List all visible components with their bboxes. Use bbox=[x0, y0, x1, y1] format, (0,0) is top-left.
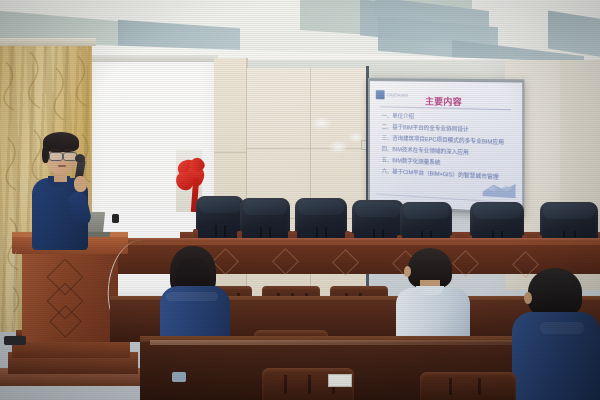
projected-slide: CityDream 主要内容 一、单位介绍 二、基于BIM平台的全专业协同设计 … bbox=[368, 78, 524, 217]
speaker-hair-side bbox=[42, 146, 49, 163]
chair-headrest bbox=[298, 200, 344, 215]
slide-surface: CityDream 主要内容 一、单位介绍 二、基于BIM平台的全专业协同设计 … bbox=[370, 81, 522, 214]
chair-crease bbox=[224, 225, 226, 237]
chair-headrest bbox=[243, 200, 287, 215]
name-card bbox=[328, 374, 352, 387]
chair-headrest bbox=[355, 202, 401, 217]
chair-headrest bbox=[543, 204, 594, 219]
webcam-icon bbox=[112, 214, 119, 223]
chair-crease bbox=[215, 225, 217, 237]
chair-slat bbox=[449, 378, 452, 395]
microphone-head-icon bbox=[75, 154, 85, 163]
stone-seam bbox=[247, 148, 367, 149]
chair-slat bbox=[284, 375, 287, 394]
conference-room-photo: CityDream 主要内容 一、单位介绍 二、基于BIM平台的全专业协同设计 … bbox=[0, 0, 600, 400]
wooden-chair[interactable] bbox=[420, 372, 516, 400]
curtain-rod bbox=[0, 38, 96, 46]
speaker-hand bbox=[74, 176, 87, 192]
floor-object bbox=[172, 372, 186, 382]
chair-slat bbox=[308, 375, 311, 394]
chair-slat bbox=[478, 378, 481, 395]
chair-headrest bbox=[473, 204, 521, 219]
attendee-man-center-ear bbox=[404, 266, 411, 277]
chair-headrest bbox=[403, 204, 449, 219]
wall-gloss bbox=[310, 116, 332, 130]
attendee-man-right-highlight bbox=[540, 322, 584, 334]
slide-glare bbox=[370, 81, 522, 214]
eyeglasses-icon bbox=[49, 152, 63, 161]
attendee-woman-highlight bbox=[166, 292, 218, 301]
attendee-man-right-hair bbox=[528, 268, 582, 316]
power-strip bbox=[4, 336, 26, 345]
wall-gloss bbox=[328, 140, 348, 154]
screen-roller bbox=[88, 55, 218, 62]
cable bbox=[12, 250, 23, 340]
speaker-brow bbox=[64, 149, 73, 151]
conference-chair[interactable] bbox=[240, 198, 290, 242]
attendee-man-right-ear bbox=[524, 292, 532, 304]
conference-chair[interactable] bbox=[295, 198, 347, 242]
speaker-brow bbox=[50, 149, 60, 151]
speaker-mouth bbox=[58, 165, 66, 167]
chair-headrest bbox=[199, 198, 241, 213]
stone-seam bbox=[214, 152, 248, 153]
